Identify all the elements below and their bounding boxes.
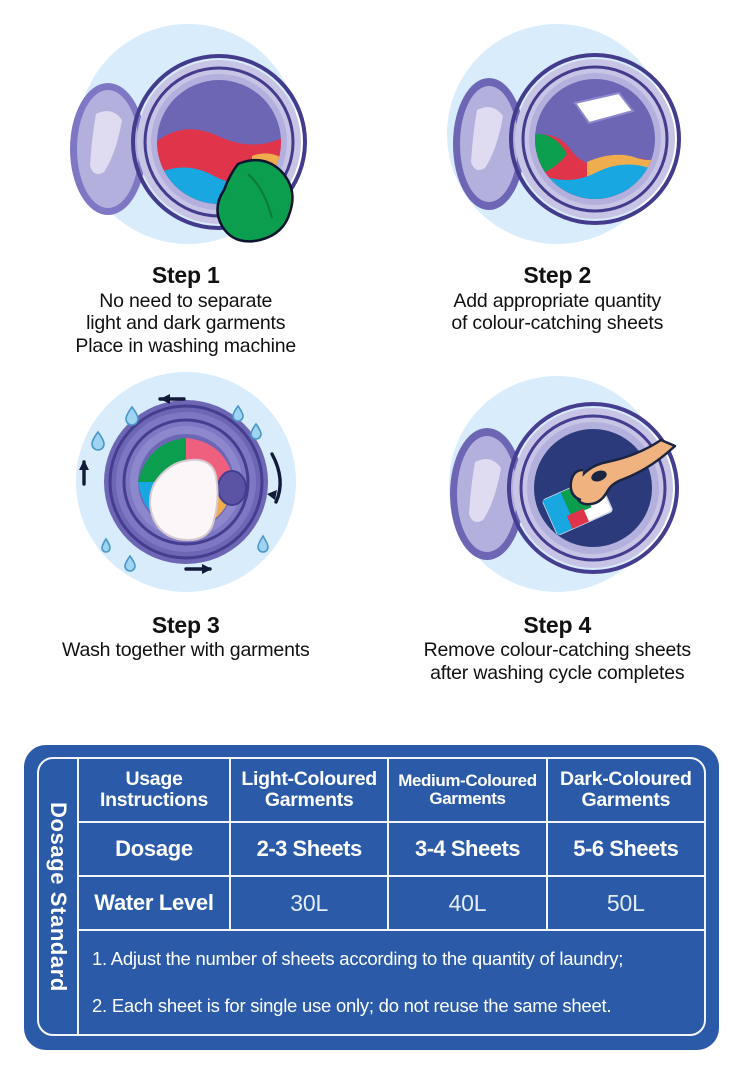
step-card-2: Step 2 Add appropriate quantity of colou… (372, 14, 743, 358)
illustration-step-3 (56, 364, 316, 610)
step-line: after washing cycle completes (424, 662, 691, 685)
step-card-1: Step 1 No need to separate light and dar… (0, 14, 372, 358)
table-header-cell-dark: Dark-Coloured Garments (548, 759, 704, 821)
illustration-step-2 (427, 14, 687, 260)
table-grid: Usage Instructions Light-Coloured Garmen… (79, 759, 704, 1034)
step-line: Add appropriate quantity (451, 290, 663, 313)
header-line: Dark-Coloured (560, 769, 692, 790)
header-line: Usage (100, 769, 208, 790)
table-header-cell-medium: Medium-Coloured Garments (389, 759, 547, 821)
row-label-dosage: Dosage (79, 823, 231, 875)
cell-water-light: 30L (231, 877, 389, 929)
header-line: Garments (398, 790, 537, 808)
step-line: Place in washing machine (75, 335, 296, 358)
caption-step-3: Step 3 Wash together with garments (62, 612, 310, 662)
table-notes: 1. Adjust the number of sheets according… (79, 931, 704, 1034)
row-label-water-level: Water Level (79, 877, 231, 929)
step-title: Step 3 (62, 612, 310, 639)
cell-dosage-medium: 3-4 Sheets (389, 823, 547, 875)
cell-water-medium: 40L (389, 877, 547, 929)
illustration-step-1 (56, 14, 316, 260)
table-row-dosage: Dosage 2-3 Sheets 3-4 Sheets 5-6 Sheets (79, 823, 704, 877)
table-row-water-level: Water Level 30L 40L 50L (79, 877, 704, 931)
step-card-3: Step 3 Wash together with garments (0, 358, 372, 685)
illustration-step-4 (427, 364, 687, 610)
dosage-standard-section: Dosage Standard Usage Instructions Light… (0, 740, 743, 1071)
header-line: Garments (241, 790, 377, 811)
cell-dosage-dark: 5-6 Sheets (548, 823, 704, 875)
step-title: Step 1 (75, 262, 296, 289)
side-label-text: Dosage Standard (45, 802, 71, 992)
step-title: Step 4 (424, 612, 691, 639)
dosage-standard-side-label: Dosage Standard (39, 759, 79, 1034)
header-line: Medium-Coloured (398, 772, 537, 790)
dosage-table: Dosage Standard Usage Instructions Light… (37, 757, 706, 1036)
table-header-cell-light: Light-Coloured Garments (231, 759, 389, 821)
step-line: light and dark garments (75, 312, 296, 335)
header-line: Garments (560, 790, 692, 811)
table-header-row: Usage Instructions Light-Coloured Garmen… (79, 759, 704, 823)
caption-step-1: Step 1 No need to separate light and dar… (75, 262, 296, 358)
note-item: 2. Each sheet is for single use only; do… (92, 996, 692, 1016)
cell-dosage-light: 2-3 Sheets (231, 823, 389, 875)
steps-grid: Step 1 No need to separate light and dar… (0, 0, 743, 684)
step-line: Remove colour-catching sheets (424, 639, 691, 662)
table-header-cell-usage: Usage Instructions (79, 759, 231, 821)
step-line: of colour-catching sheets (451, 312, 663, 335)
step-card-4: Step 4 Remove colour-catching sheets aft… (372, 358, 743, 685)
dosage-standard-panel: Dosage Standard Usage Instructions Light… (24, 745, 719, 1050)
cell-water-dark: 50L (548, 877, 704, 929)
header-line: Instructions (100, 790, 208, 811)
step-line: No need to separate (75, 290, 296, 313)
step-title: Step 2 (451, 262, 663, 289)
caption-step-2: Step 2 Add appropriate quantity of colou… (451, 262, 663, 335)
step-line: Wash together with garments (62, 639, 310, 662)
caption-step-4: Step 4 Remove colour-catching sheets aft… (424, 612, 691, 685)
note-item: 1. Adjust the number of sheets according… (92, 949, 692, 969)
header-line: Light-Coloured (241, 769, 377, 790)
